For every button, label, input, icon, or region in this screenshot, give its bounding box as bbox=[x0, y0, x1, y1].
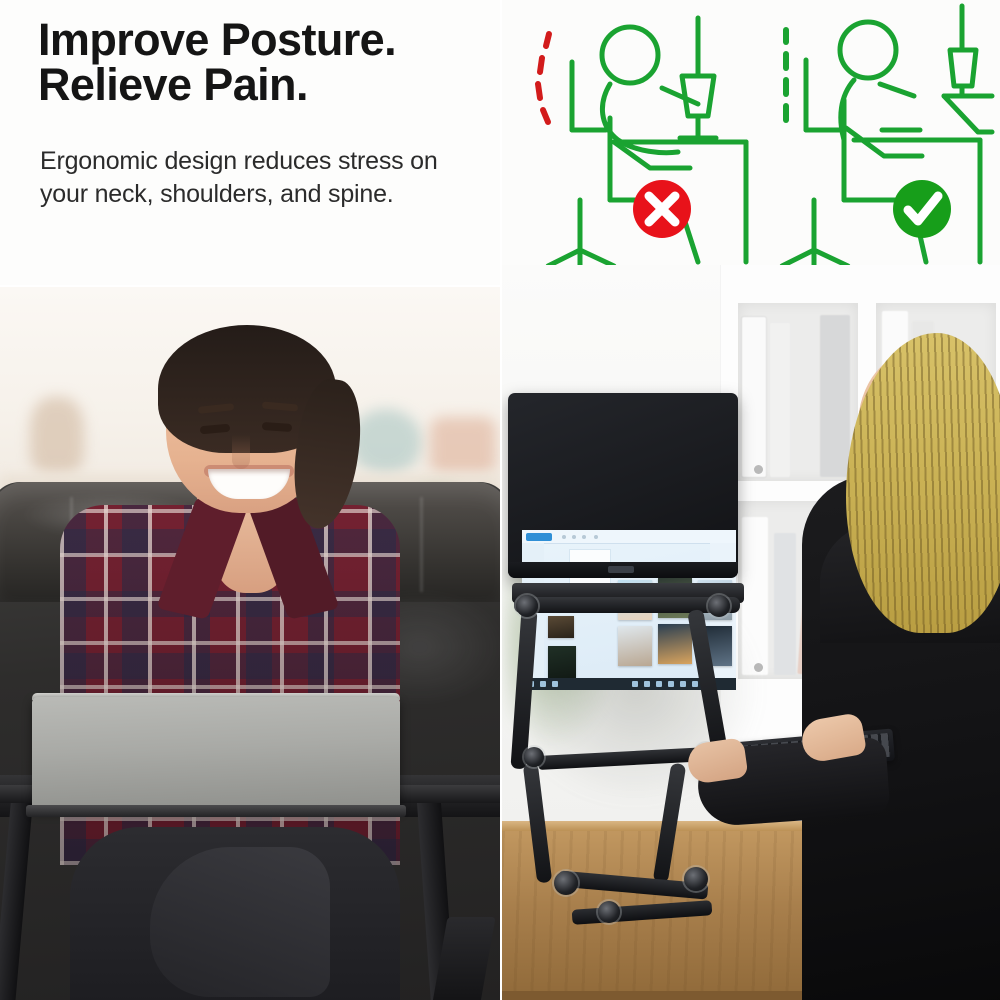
laptop bbox=[32, 697, 400, 809]
binder bbox=[820, 315, 850, 477]
decor-object bbox=[430, 417, 496, 475]
photo-thumbnail bbox=[548, 616, 574, 638]
page-title: Improve Posture. Relieve Pain. bbox=[38, 18, 488, 107]
check-icon bbox=[893, 180, 951, 238]
binder bbox=[770, 323, 790, 477]
couch-seam bbox=[420, 497, 423, 592]
monitor bbox=[508, 393, 738, 578]
stand-pivot-joint bbox=[516, 595, 538, 617]
stand-pivot-joint bbox=[708, 595, 730, 617]
toolbar-icon bbox=[572, 535, 576, 539]
toolbar-icon bbox=[594, 535, 598, 539]
photo-thumbnail bbox=[658, 624, 692, 664]
app-toolbar bbox=[522, 530, 736, 544]
binder bbox=[742, 317, 766, 477]
laptop-base bbox=[26, 805, 406, 817]
photo-woman-using-laptop-on-couch bbox=[0, 287, 500, 1000]
shelf-knob bbox=[754, 465, 763, 474]
subcopy-text: Ergonomic design reduces stress on your … bbox=[40, 145, 480, 212]
cross-icon bbox=[633, 180, 691, 238]
binder bbox=[774, 533, 796, 675]
taskbar-icon bbox=[632, 681, 638, 687]
toolbar-icon bbox=[582, 535, 586, 539]
decor-object bbox=[350, 409, 422, 475]
bad-spine-indicator bbox=[538, 34, 549, 122]
taskbar-icon bbox=[656, 681, 662, 687]
toolbar-icon bbox=[562, 535, 566, 539]
crossed-leg bbox=[150, 847, 330, 997]
stand-pivot-joint bbox=[524, 747, 544, 767]
taskbar-icon bbox=[692, 681, 698, 687]
copy-panel: Improve Posture. Relieve Pain. Ergonomic… bbox=[0, 0, 500, 285]
decor-object bbox=[30, 397, 84, 475]
taskbar-icon bbox=[680, 681, 686, 687]
taskbar-icon bbox=[540, 681, 546, 687]
photo-thumbnail bbox=[618, 626, 652, 666]
monitor-brand-logo bbox=[608, 566, 634, 573]
headline-line-2: Relieve Pain. bbox=[38, 63, 488, 108]
nose bbox=[232, 435, 250, 469]
stand-pivot-joint bbox=[684, 867, 708, 891]
stand-upper-arm bbox=[514, 597, 740, 613]
taskbar-icon bbox=[644, 681, 650, 687]
stand-pivot-joint bbox=[598, 901, 620, 923]
photo-woman-standing-at-desk bbox=[502, 265, 1000, 1000]
taskbar-icon bbox=[668, 681, 674, 687]
posture-comparison-diagram bbox=[502, 0, 1000, 285]
app-logo bbox=[526, 533, 552, 541]
product-feature-graphic: Improve Posture. Relieve Pain. Ergonomic… bbox=[0, 0, 1000, 1000]
stand-pivot-joint bbox=[554, 871, 578, 895]
headline-line-1: Improve Posture. bbox=[38, 14, 396, 65]
taskbar-icon bbox=[552, 681, 558, 687]
